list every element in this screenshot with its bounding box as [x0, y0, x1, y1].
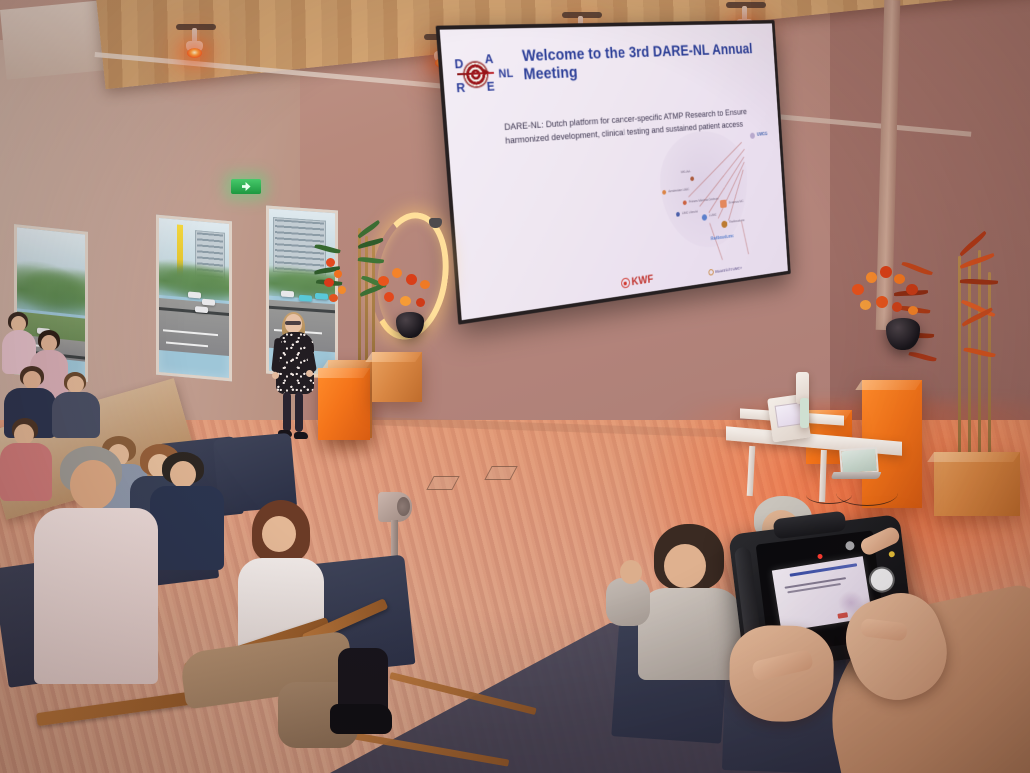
audience-member-arm	[606, 560, 658, 630]
audience-member	[52, 372, 104, 444]
maastricht-mark-icon	[708, 269, 714, 276]
glasses-icon	[285, 321, 301, 325]
flower-arrangement-left	[324, 252, 370, 312]
arrow-icon	[483, 68, 490, 76]
flower-arrangement-left-2	[372, 266, 444, 322]
logo-letter-r: R	[456, 81, 466, 94]
presenter-shoe-right	[294, 432, 308, 439]
smartphone-foreground[interactable]	[728, 514, 916, 672]
presenter-hand-right	[306, 370, 313, 377]
logo-letter-d: D	[454, 57, 464, 70]
presenter-leg-right	[295, 392, 303, 432]
window-center	[156, 215, 232, 382]
map-node-hub	[750, 133, 755, 139]
plinth-orange-podium	[318, 368, 370, 440]
speaker-cone-icon	[397, 497, 410, 516]
slide-title: Welcome to the 3rd DARE-NL Annual Meetin…	[522, 41, 773, 85]
presentation-slide: D A R E NL Welcome to the 3rd DARE-NL An…	[440, 23, 788, 320]
pa-speaker-on-stand	[378, 492, 412, 562]
plinth-wood-right	[934, 452, 1020, 516]
laptop-screen	[839, 447, 879, 476]
maastricht-label: Maastricht UMC+	[715, 266, 742, 274]
kwf-logo: KWF	[621, 272, 654, 289]
viewfinder-kwf-logo	[837, 612, 848, 619]
presenter	[272, 314, 318, 446]
logo-suffix-nl: NL	[498, 66, 514, 80]
presenter-leg-left	[283, 392, 291, 432]
projection-screen: D A R E NL Welcome to the 3rd DARE-NL An…	[436, 20, 791, 325]
recording-indicator-icon	[817, 554, 823, 560]
av-pole-lower	[800, 398, 809, 428]
viewfinder-title-line	[790, 563, 858, 577]
presenter-hand-left	[272, 372, 279, 379]
maastricht-umc-logo: Maastricht UMC+	[708, 265, 742, 276]
plinth-wood-left-back	[372, 352, 422, 402]
flower-arrangement-right	[848, 262, 936, 326]
logo-letter-a: A	[484, 52, 493, 65]
logo-letter-e: E	[486, 80, 495, 93]
map-link	[741, 221, 749, 254]
emergency-exit-sign-icon	[231, 179, 261, 194]
map-node	[720, 200, 727, 209]
laptop-keyboard	[831, 472, 882, 479]
kwf-label: KWF	[631, 272, 654, 288]
partner-network-map: UMCG Amsterdam UMC Prinses Máxima Centru…	[629, 113, 778, 268]
map-label-hub: UMCG	[757, 132, 768, 138]
dare-nl-logo: D A R E NL	[454, 50, 514, 97]
viewfinder-logo-icon	[776, 573, 785, 582]
flash-toggle-icon[interactable]	[845, 541, 855, 551]
photo-scene: D A R E NL Welcome to the 3rd DARE-NL An…	[0, 0, 1030, 773]
audience-member-foreground	[34, 446, 164, 696]
audience-member-boots	[330, 648, 420, 758]
screen-frame: D A R E NL Welcome to the 3rd DARE-NL An…	[436, 20, 791, 325]
kwf-mark-icon	[621, 277, 630, 288]
